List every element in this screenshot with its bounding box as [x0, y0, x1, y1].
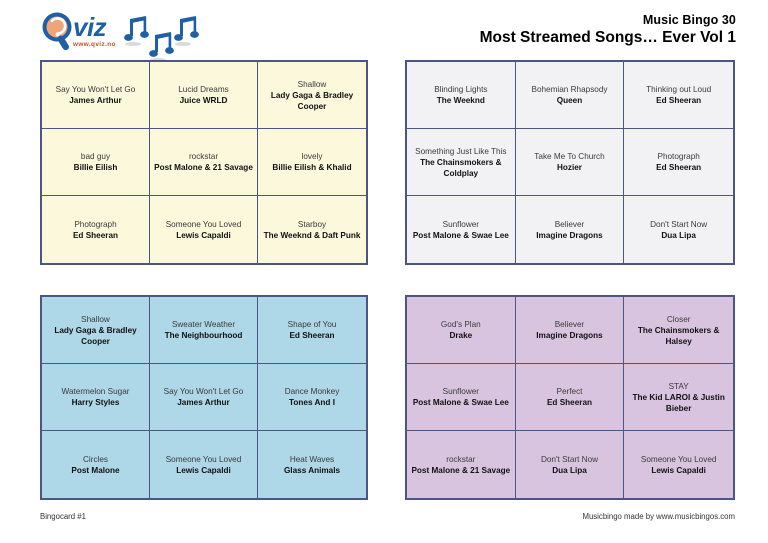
song-artist: Ed Sheeran: [289, 330, 334, 341]
song-title: Shallow: [81, 314, 110, 325]
song-artist: Post Malone: [71, 465, 119, 476]
bingo-cell[interactable]: Take Me To ChurchHozier: [516, 129, 625, 196]
song-artist: Tones And I: [289, 397, 335, 408]
song-title: Someone You Loved: [166, 454, 242, 465]
song-title: Photograph: [74, 219, 116, 230]
page-header: viz www.qviz.no: [0, 0, 768, 58]
bingo-cell[interactable]: Don't Start NowDua Lipa: [516, 431, 625, 498]
bingo-card-1[interactable]: Say You Won't Let GoJames ArthurLucid Dr…: [40, 60, 368, 265]
bingo-cell[interactable]: Say You Won't Let GoJames Arthur: [150, 364, 258, 431]
song-title: Someone You Loved: [641, 454, 717, 465]
song-title: Believer: [555, 319, 585, 330]
song-artist: The Weeknd & Daft Punk: [264, 230, 361, 241]
song-artist: Dua Lipa: [552, 465, 587, 476]
song-title: Watermelon Sugar: [62, 386, 130, 397]
bingocard-number: Bingocard #1: [40, 512, 86, 521]
song-artist: Post Malone & Swae Lee: [413, 397, 509, 408]
bingo-cell[interactable]: Something Just Like ThisThe Chainsmokers…: [407, 129, 516, 196]
song-artist: The Chainsmokers & Halsey: [628, 325, 729, 347]
footer-credit: Musicbingo made by www.musicbingos.com: [582, 512, 735, 521]
song-title: Dance Monkey: [285, 386, 340, 397]
song-title: Sunflower: [443, 386, 479, 397]
song-title: Sweater Weather: [172, 319, 235, 330]
bingo-cell[interactable]: BelieverImagine Dragons: [516, 297, 625, 364]
bingo-cell[interactable]: PerfectEd Sheeran: [516, 364, 625, 431]
song-artist: Post Malone & 21 Savage: [154, 162, 253, 173]
song-title: Shallow: [298, 79, 327, 90]
bingo-cell[interactable]: Sweater WeatherThe Neighbourhood: [150, 297, 258, 364]
song-artist: Lady Gaga & Bradley Cooper: [262, 90, 362, 112]
bingo-cell[interactable]: CloserThe Chainsmokers & Halsey: [624, 297, 733, 364]
song-title: STAY: [669, 381, 689, 392]
bingo-cell[interactable]: Dance MonkeyTones And I: [258, 364, 366, 431]
song-artist: Post Malone & 21 Savage: [411, 465, 510, 476]
bingo-card-2[interactable]: Blinding LightsThe WeekndBohemian Rhapso…: [405, 60, 735, 265]
bingo-cell[interactable]: Bohemian RhapsodyQueen: [516, 62, 625, 129]
song-artist: Ed Sheeran: [656, 95, 701, 106]
bingo-cell[interactable]: God's PlanDrake: [407, 297, 516, 364]
song-title: Don't Start Now: [541, 454, 598, 465]
song-artist: Ed Sheeran: [656, 162, 701, 173]
song-title: Lucid Dreams: [178, 84, 229, 95]
bingo-cell[interactable]: rockstarPost Malone & 21 Savage: [407, 431, 516, 498]
song-artist: Billie Eilish & Khalid: [272, 162, 351, 173]
song-title: rockstar: [446, 454, 475, 465]
bingo-cell[interactable]: Blinding LightsThe Weeknd: [407, 62, 516, 129]
song-title: God's Plan: [441, 319, 481, 330]
bingo-cell[interactable]: BelieverImagine Dragons: [516, 196, 625, 263]
bingo-card-4[interactable]: God's PlanDrakeBelieverImagine DragonsCl…: [405, 295, 735, 500]
bingo-cell[interactable]: rockstarPost Malone & 21 Savage: [150, 129, 258, 196]
bingo-cell[interactable]: Heat WavesGlass Animals: [258, 431, 366, 498]
page-title: Music Bingo 30 Most Streamed Songs… Ever…: [480, 13, 736, 48]
song-title: lovely: [302, 151, 323, 162]
song-artist: Lewis Capaldi: [176, 230, 231, 241]
song-artist: Queen: [557, 95, 582, 106]
song-title: rockstar: [189, 151, 218, 162]
bingo-cell[interactable]: Lucid DreamsJuice WRLD: [150, 62, 258, 129]
song-artist: Harry Styles: [72, 397, 120, 408]
svg-text:www.qviz.no: www.qviz.no: [72, 41, 116, 48]
song-title: bad guy: [81, 151, 110, 162]
song-artist: The Weeknd: [437, 95, 485, 106]
bingo-cell[interactable]: SunflowerPost Malone & Swae Lee: [407, 364, 516, 431]
bingo-cell[interactable]: STAYThe Kid LAROI & Justin Bieber: [624, 364, 733, 431]
bingo-cell[interactable]: StarboyThe Weeknd & Daft Punk: [258, 196, 366, 263]
song-artist: The Neighbourhood: [165, 330, 243, 341]
song-title: Don't Start Now: [650, 219, 707, 230]
bingo-cell[interactable]: bad guyBillie Eilish: [42, 129, 150, 196]
song-artist: Post Malone & Swae Lee: [413, 230, 509, 241]
bingo-card-3[interactable]: ShallowLady Gaga & Bradley CooperSweater…: [40, 295, 368, 500]
bingo-cell[interactable]: lovelyBillie Eilish & Khalid: [258, 129, 366, 196]
song-artist: James Arthur: [177, 397, 229, 408]
song-artist: Lewis Capaldi: [651, 465, 706, 476]
song-title: Starboy: [298, 219, 326, 230]
bingo-cell[interactable]: Someone You LovedLewis Capaldi: [624, 431, 733, 498]
title-heading: Most Streamed Songs… Ever Vol 1: [480, 28, 736, 48]
page-footer: Bingocard #1 Musicbingo made by www.musi…: [0, 512, 768, 532]
song-title: Something Just Like This: [415, 146, 506, 157]
song-artist: Hozier: [557, 162, 582, 173]
song-artist: Glass Animals: [284, 465, 340, 476]
bingo-cell[interactable]: PhotographEd Sheeran: [42, 196, 150, 263]
song-artist: Lewis Capaldi: [176, 465, 231, 476]
music-notes-icon: [122, 14, 212, 60]
song-title: Perfect: [557, 386, 583, 397]
bingo-cell[interactable]: ShallowLady Gaga & Bradley Cooper: [258, 62, 366, 129]
bingo-cell[interactable]: CirclesPost Malone: [42, 431, 150, 498]
song-title: Blinding Lights: [434, 84, 487, 95]
bingo-cell[interactable]: ShallowLady Gaga & Bradley Cooper: [42, 297, 150, 364]
song-title: Take Me To Church: [534, 151, 604, 162]
song-title: Say You Won't Let Go: [164, 386, 244, 397]
song-title: Closer: [667, 314, 691, 325]
bingo-cell[interactable]: Someone You LovedLewis Capaldi: [150, 196, 258, 263]
bingo-cell[interactable]: Shape of YouEd Sheeran: [258, 297, 366, 364]
song-title: Heat Waves: [290, 454, 334, 465]
song-title: Say You Won't Let Go: [56, 84, 136, 95]
song-artist: James Arthur: [69, 95, 121, 106]
song-artist: Imagine Dragons: [536, 230, 602, 241]
svg-text:viz: viz: [73, 12, 107, 42]
song-artist: Ed Sheeran: [73, 230, 118, 241]
bingo-cell[interactable]: SunflowerPost Malone & Swae Lee: [407, 196, 516, 263]
song-artist: Juice WRLD: [180, 95, 228, 106]
music-notes-decoration: [122, 14, 212, 60]
bingo-cell[interactable]: Watermelon SugarHarry Styles: [42, 364, 150, 431]
song-artist: Ed Sheeran: [547, 397, 592, 408]
song-artist: The Kid LAROI & Justin Bieber: [628, 392, 729, 414]
bingo-cell[interactable]: Thinking out LoudEd Sheeran: [624, 62, 733, 129]
song-artist: Billie Eilish: [74, 162, 118, 173]
bingo-cell[interactable]: Don't Start NowDua Lipa: [624, 196, 733, 263]
song-artist: Lady Gaga & Bradley Cooper: [46, 325, 145, 347]
song-artist: Drake: [449, 330, 472, 341]
song-title: Thinking out Loud: [646, 84, 711, 95]
song-title: Bohemian Rhapsody: [531, 84, 607, 95]
song-title: Circles: [83, 454, 108, 465]
song-artist: Dua Lipa: [661, 230, 696, 241]
bingo-cell[interactable]: PhotographEd Sheeran: [624, 129, 733, 196]
song-artist: Imagine Dragons: [536, 330, 602, 341]
bingo-cell[interactable]: Someone You LovedLewis Capaldi: [150, 431, 258, 498]
title-subtitle: Music Bingo 30: [480, 13, 736, 28]
song-title: Believer: [555, 219, 585, 230]
song-artist: The Chainsmokers & Coldplay: [411, 157, 511, 179]
song-title: Someone You Loved: [166, 219, 242, 230]
bingo-cell[interactable]: Say You Won't Let GoJames Arthur: [42, 62, 150, 129]
song-title: Sunflower: [443, 219, 479, 230]
song-title: Shape of You: [288, 319, 337, 330]
song-title: Photograph: [657, 151, 699, 162]
